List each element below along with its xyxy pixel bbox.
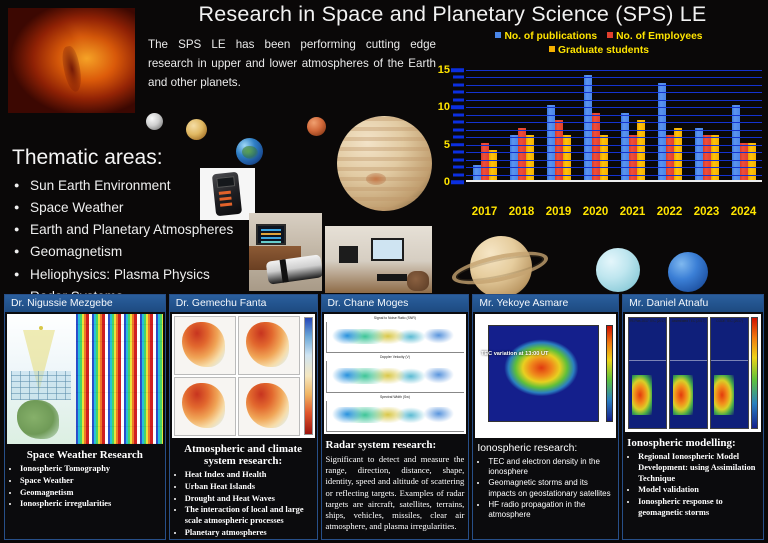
instrument-key — [220, 203, 232, 207]
panel-bullet-item: Planetary atmospheres — [185, 528, 313, 539]
page-title: Research in Space and Planetary Science … — [140, 2, 765, 27]
panel-bullet-item: The interaction of local and large scale… — [185, 505, 313, 527]
lab-monitor — [256, 224, 286, 245]
y-tick-label: 5 — [444, 139, 450, 151]
y-minor-tick — [453, 173, 464, 176]
y-tick-mark — [451, 106, 464, 110]
gridline — [466, 115, 762, 116]
y-minor-tick — [453, 76, 464, 79]
gridline — [466, 107, 762, 108]
moon-image — [146, 113, 163, 130]
gridline — [466, 145, 762, 146]
gridline — [466, 152, 762, 153]
tomography-schematic — [7, 314, 76, 444]
hand — [407, 271, 429, 291]
thematic-areas-heading: Thematic areas: — [12, 146, 163, 170]
bar-2022-2[interactable] — [674, 128, 682, 180]
thematic-area-item-3: Geomagnetism — [14, 241, 262, 263]
mercury-image — [186, 119, 207, 140]
model-map-title: Assimilated TEC (2017) — [670, 319, 707, 323]
gridline — [466, 160, 762, 161]
bar-2020-0[interactable] — [584, 75, 592, 180]
y-minor-tick — [453, 91, 464, 94]
legend-item-1: No. of Employees — [607, 30, 702, 44]
panel-bullet-item: Geomagnetism — [20, 488, 161, 499]
panel-text: Radar system research: Significant to de… — [322, 436, 469, 539]
jupiter-image — [337, 116, 432, 211]
x-tick-label: 2020 — [577, 206, 614, 218]
bar-group-2020 — [577, 70, 614, 180]
chart-legend: No. of publicationsNo. of EmployeesGradu… — [432, 30, 766, 57]
panel-paragraph: Significant to detect and measure the ra… — [326, 454, 465, 532]
panel-bullet-item: Heat Index and Health — [185, 470, 313, 481]
model-map: CODE TEC (2017) — [710, 317, 749, 429]
climate-map — [174, 377, 236, 436]
legend-swatch-icon — [549, 46, 555, 52]
bar-group-2022 — [651, 70, 688, 180]
chart-bars — [466, 70, 762, 180]
panel-bullets: Regional Ionospheric Model Development: … — [627, 452, 759, 519]
gridline — [466, 167, 762, 168]
chart-plot-area: 051015 — [432, 70, 766, 198]
model-map-title: CODE TEC (2017) — [711, 319, 748, 323]
desktop-monitor — [371, 238, 404, 261]
colorbar — [751, 317, 758, 429]
panel-figure-tec-map: TEC variation at 13:00 UT — [475, 314, 616, 438]
radar-plot — [326, 361, 465, 392]
panel-title: Dr. Nigussie Mezgebe — [5, 295, 165, 312]
y-minor-tick — [453, 136, 464, 139]
radar-plot-title: Doppler Velocity (V) — [326, 355, 465, 359]
y-minor-tick — [453, 121, 464, 124]
poster-canvas: Research in Space and Planetary Science … — [0, 0, 768, 543]
panel-bullets: Ionospheric TomographySpace WeatherGeoma… — [9, 464, 161, 510]
y-minor-tick — [453, 151, 464, 154]
climate-map — [174, 316, 236, 375]
bar-2023-0[interactable] — [695, 128, 703, 180]
y-minor-tick — [453, 98, 464, 101]
bar-group-2024 — [725, 70, 762, 180]
sun-image — [8, 8, 135, 113]
y-minor-tick — [453, 158, 464, 161]
bar-group-2023 — [688, 70, 725, 180]
gridline — [466, 85, 762, 86]
chart-y-axis: 051015 — [432, 70, 466, 182]
panel-bullet-item: Ionospheric irregularities — [20, 499, 161, 510]
x-tick-label: 2023 — [688, 206, 725, 218]
panel-figure-model-maps: IRI-Plas 2017 TEC (2017) Assimilated TEC… — [625, 314, 761, 432]
landmass — [17, 400, 59, 439]
panel-heading: Ionospheric modelling: — [627, 437, 759, 449]
bar-group-2018 — [503, 70, 540, 180]
publications-chart: No. of publicationsNo. of EmployeesGradu… — [432, 30, 766, 230]
uranus-image — [596, 248, 640, 292]
y-minor-tick — [453, 166, 464, 169]
y-tick-mark — [451, 68, 464, 72]
panel-bullet-item: Model validation — [638, 485, 759, 496]
y-minor-tick — [453, 128, 464, 131]
panel-bullet-item: Urban Heat Islands — [185, 482, 313, 493]
x-tick-label: 2017 — [466, 206, 503, 218]
panel-bullet-item: HF radio propagation in the atmosphere — [488, 500, 614, 520]
tomography-panels-grid — [76, 314, 163, 444]
bar-2021-1[interactable] — [629, 135, 637, 180]
panel-gemechu-fanta[interactable]: Dr. Gemechu Fanta Atmospheric and climat… — [169, 294, 318, 540]
intro-paragraph: The SPS LE has been performing cutting e… — [148, 36, 436, 92]
gridline — [466, 77, 762, 78]
bar-2018-1[interactable] — [518, 128, 526, 180]
earth-image — [236, 138, 263, 165]
keyboard — [377, 274, 407, 281]
panel-chane-moges[interactable]: Dr. Chane Moges Signal to Noise Ratio (S… — [321, 294, 470, 540]
legend-swatch-icon — [495, 32, 501, 38]
panel-figure-tomography — [7, 314, 163, 444]
x-tick-label: 2018 — [503, 206, 540, 218]
panel-heading: Radar system research: — [326, 439, 465, 451]
bar-2024-0[interactable] — [732, 105, 740, 180]
panel-bullets: TEC and electron density in the ionosphe… — [477, 457, 614, 520]
x-tick-label: 2024 — [725, 206, 762, 218]
tec-global-map — [488, 325, 599, 422]
researcher-panels: Dr. Nigussie Mezgebe Space Weather Resea… — [4, 294, 764, 540]
panel-bullet-item: Drought and Heat Waves — [185, 494, 313, 505]
radar-plot-title: Signal to Noise Ratio (SNR) — [326, 316, 465, 320]
tomography-grid — [11, 371, 71, 400]
panel-bullet-item: TEC and electron density in the ionosphe… — [488, 457, 614, 477]
bar-2022-0[interactable] — [658, 83, 666, 180]
gridline — [466, 130, 762, 131]
bar-2018-2[interactable] — [526, 135, 534, 180]
y-tick-label: 15 — [438, 64, 450, 76]
radar-plot — [326, 401, 465, 432]
legend-label: Graduate students — [558, 45, 649, 56]
bar-2022-1[interactable] — [666, 135, 674, 180]
x-tick-label: 2022 — [651, 206, 688, 218]
x-tick-label: 2021 — [614, 206, 651, 218]
bar-group-2019 — [540, 70, 577, 180]
neptune-image — [668, 252, 708, 292]
panel-title: Mr. Yekoye Asmare — [473, 295, 618, 312]
colorbar — [606, 325, 613, 422]
legend-label: No. of Employees — [616, 31, 702, 42]
gridline — [466, 122, 762, 123]
panel-bullet-item: Geomagnetic storms and its impacts on ge… — [488, 478, 614, 498]
panel-daniel-atnafu[interactable]: Mr. Daniel Atnafu IRI-Plas 2017 TEC (201… — [622, 294, 764, 540]
handheld-instrument-photo — [200, 168, 255, 220]
bar-2019-2[interactable] — [563, 135, 571, 180]
mars-image — [307, 117, 326, 136]
gridline — [466, 100, 762, 101]
figure-annotation: TEC variation at 13:00 UT — [481, 351, 548, 357]
panel-heading: Ionospheric research: — [477, 443, 614, 454]
computer-tower — [339, 246, 358, 263]
climate-map — [238, 316, 300, 375]
radar-spectrogram-stack: Signal to Noise Ratio (SNR) Doppler Velo… — [324, 314, 467, 434]
panel-heading: Atmospheric and climate system research: — [174, 443, 313, 467]
panel-title: Dr. Gemechu Fanta — [170, 295, 317, 312]
gridline — [466, 92, 762, 93]
panel-bullet-item: Ionospheric Tomography — [20, 464, 161, 475]
workstation-photo — [325, 226, 432, 293]
panel-title: Dr. Chane Moges — [322, 295, 469, 312]
radar-plot-title: Spectral Width (Sw) — [326, 395, 465, 399]
panel-text: Space Weather Research Ionospheric Tomog… — [5, 446, 165, 539]
panel-bullet-item: Regional Ionospheric Model Development: … — [638, 452, 759, 484]
panel-text: Ionospheric modelling: Regional Ionosphe… — [623, 434, 763, 539]
gridline — [466, 137, 762, 138]
thematic-area-item-2: Earth and Planetary Atmospheres — [14, 219, 262, 241]
x-tick-label: 2019 — [540, 206, 577, 218]
y-tick-mark — [451, 180, 464, 184]
panel-text: Ionospheric research: TEC and electron d… — [473, 440, 618, 539]
y-minor-tick — [453, 83, 464, 86]
bar-2019-0[interactable] — [547, 105, 555, 180]
panel-figure-climate-maps — [172, 314, 315, 438]
bar-group-2021 — [614, 70, 651, 180]
panel-heading: Space Weather Research — [9, 449, 161, 461]
instrument-key — [219, 191, 231, 195]
bar-group-2017 — [466, 70, 503, 180]
panel-bullets: Heat Index and HealthUrban Heat IslandsD… — [174, 470, 313, 539]
y-tick-mark — [451, 143, 464, 147]
panel-bullet-item: Space Weather — [20, 476, 161, 487]
climate-map — [238, 377, 300, 436]
instrument-body — [212, 172, 242, 216]
instrument-screen — [216, 176, 235, 188]
legend-label: No. of publications — [504, 31, 597, 42]
model-map: Assimilated TEC (2017) — [669, 317, 708, 429]
panel-title: Mr. Daniel Atnafu — [623, 295, 763, 312]
y-tick-label: 0 — [444, 176, 450, 188]
model-map: IRI-Plas 2017 TEC (2017) — [628, 317, 667, 429]
gridline — [466, 175, 762, 176]
climate-map-grid — [172, 314, 302, 438]
legend-item-2: Graduate students — [549, 44, 649, 58]
thematic-area-item-4: Heliophysics: Plasma Physics — [14, 264, 262, 286]
chart-grid-area — [466, 70, 762, 182]
legend-swatch-icon — [607, 32, 613, 38]
bar-2023-2[interactable] — [711, 135, 719, 180]
model-map-title: IRI-Plas 2017 TEC (2017) — [629, 319, 666, 323]
y-tick-label: 10 — [438, 101, 450, 113]
panel-figure-radar-plots: Signal to Noise Ratio (SNR) Doppler Velo… — [324, 314, 467, 434]
panel-text: Atmospheric and climate system research:… — [170, 440, 317, 539]
radar-lab-photo — [249, 213, 322, 291]
gridline — [466, 70, 762, 71]
chart-x-labels: 20172018201920202021202220232024 — [466, 206, 762, 218]
colorbar — [304, 317, 313, 435]
panel-nigussie-mezgebe[interactable]: Dr. Nigussie Mezgebe Space Weather Resea… — [4, 294, 166, 540]
bar-2020-2[interactable] — [600, 135, 608, 180]
legend-item-0: No. of publications — [495, 30, 597, 44]
bar-2018-0[interactable] — [510, 135, 518, 180]
panel-bullet-item: Ionospheric response to geomagnetic stor… — [638, 497, 759, 519]
y-minor-tick — [453, 113, 464, 116]
bar-2023-1[interactable] — [703, 135, 711, 180]
instrument-key — [219, 197, 231, 201]
panel-yekoye-asmare[interactable]: Mr. Yekoye Asmare TEC variation at 13:00… — [472, 294, 619, 540]
radar-plot — [326, 322, 465, 353]
